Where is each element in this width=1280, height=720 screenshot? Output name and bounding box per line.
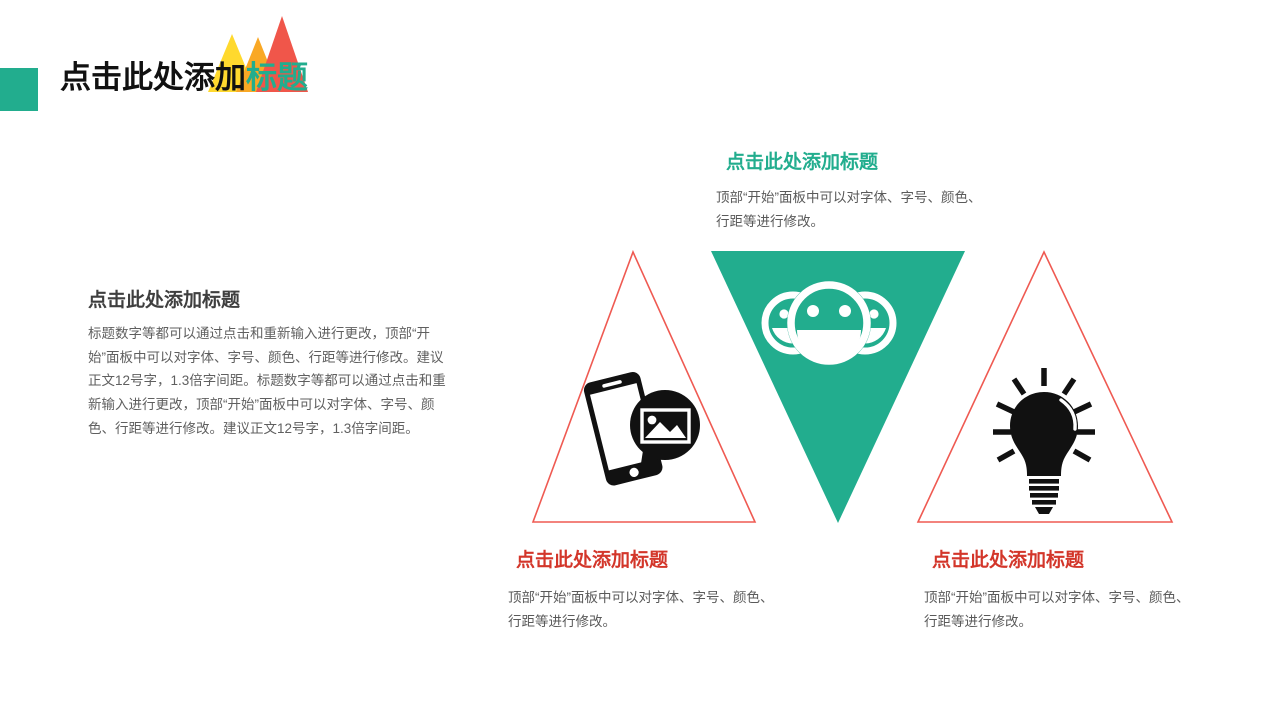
bottom-right-block-body: 顶部“开始”面板中可以对字体、字号、颜色、行距等进行修改。 (924, 586, 1200, 633)
center-block-heading: 点击此处添加标题 (726, 152, 878, 175)
center-block-body: 顶部“开始”面板中可以对字体、字号、颜色、行距等进行修改。 (716, 186, 992, 233)
slide-canvas: 点击此处添加标题 (0, 0, 1280, 720)
left-triangle-outline (533, 252, 755, 522)
bottom-left-block-body: 顶部“开始”面板中可以对字体、字号、颜色、行距等进行修改。 (508, 586, 784, 633)
left-block-heading: 点击此处添加标题 (88, 290, 240, 313)
lightbulb-base-icon (1029, 479, 1059, 514)
bottom-left-block-heading: 点击此处添加标题 (516, 550, 668, 573)
bottom-right-block-heading: 点击此处添加标题 (932, 550, 1084, 573)
left-block-body: 标题数字等都可以通过点击和重新输入进行更改，顶部“开始”面板中可以对字体、字号、… (88, 322, 446, 440)
smiley-face-center-icon (787, 281, 871, 365)
smartphone-photo-message-icon (582, 370, 700, 487)
lightbulb-idea-icon (993, 368, 1095, 514)
